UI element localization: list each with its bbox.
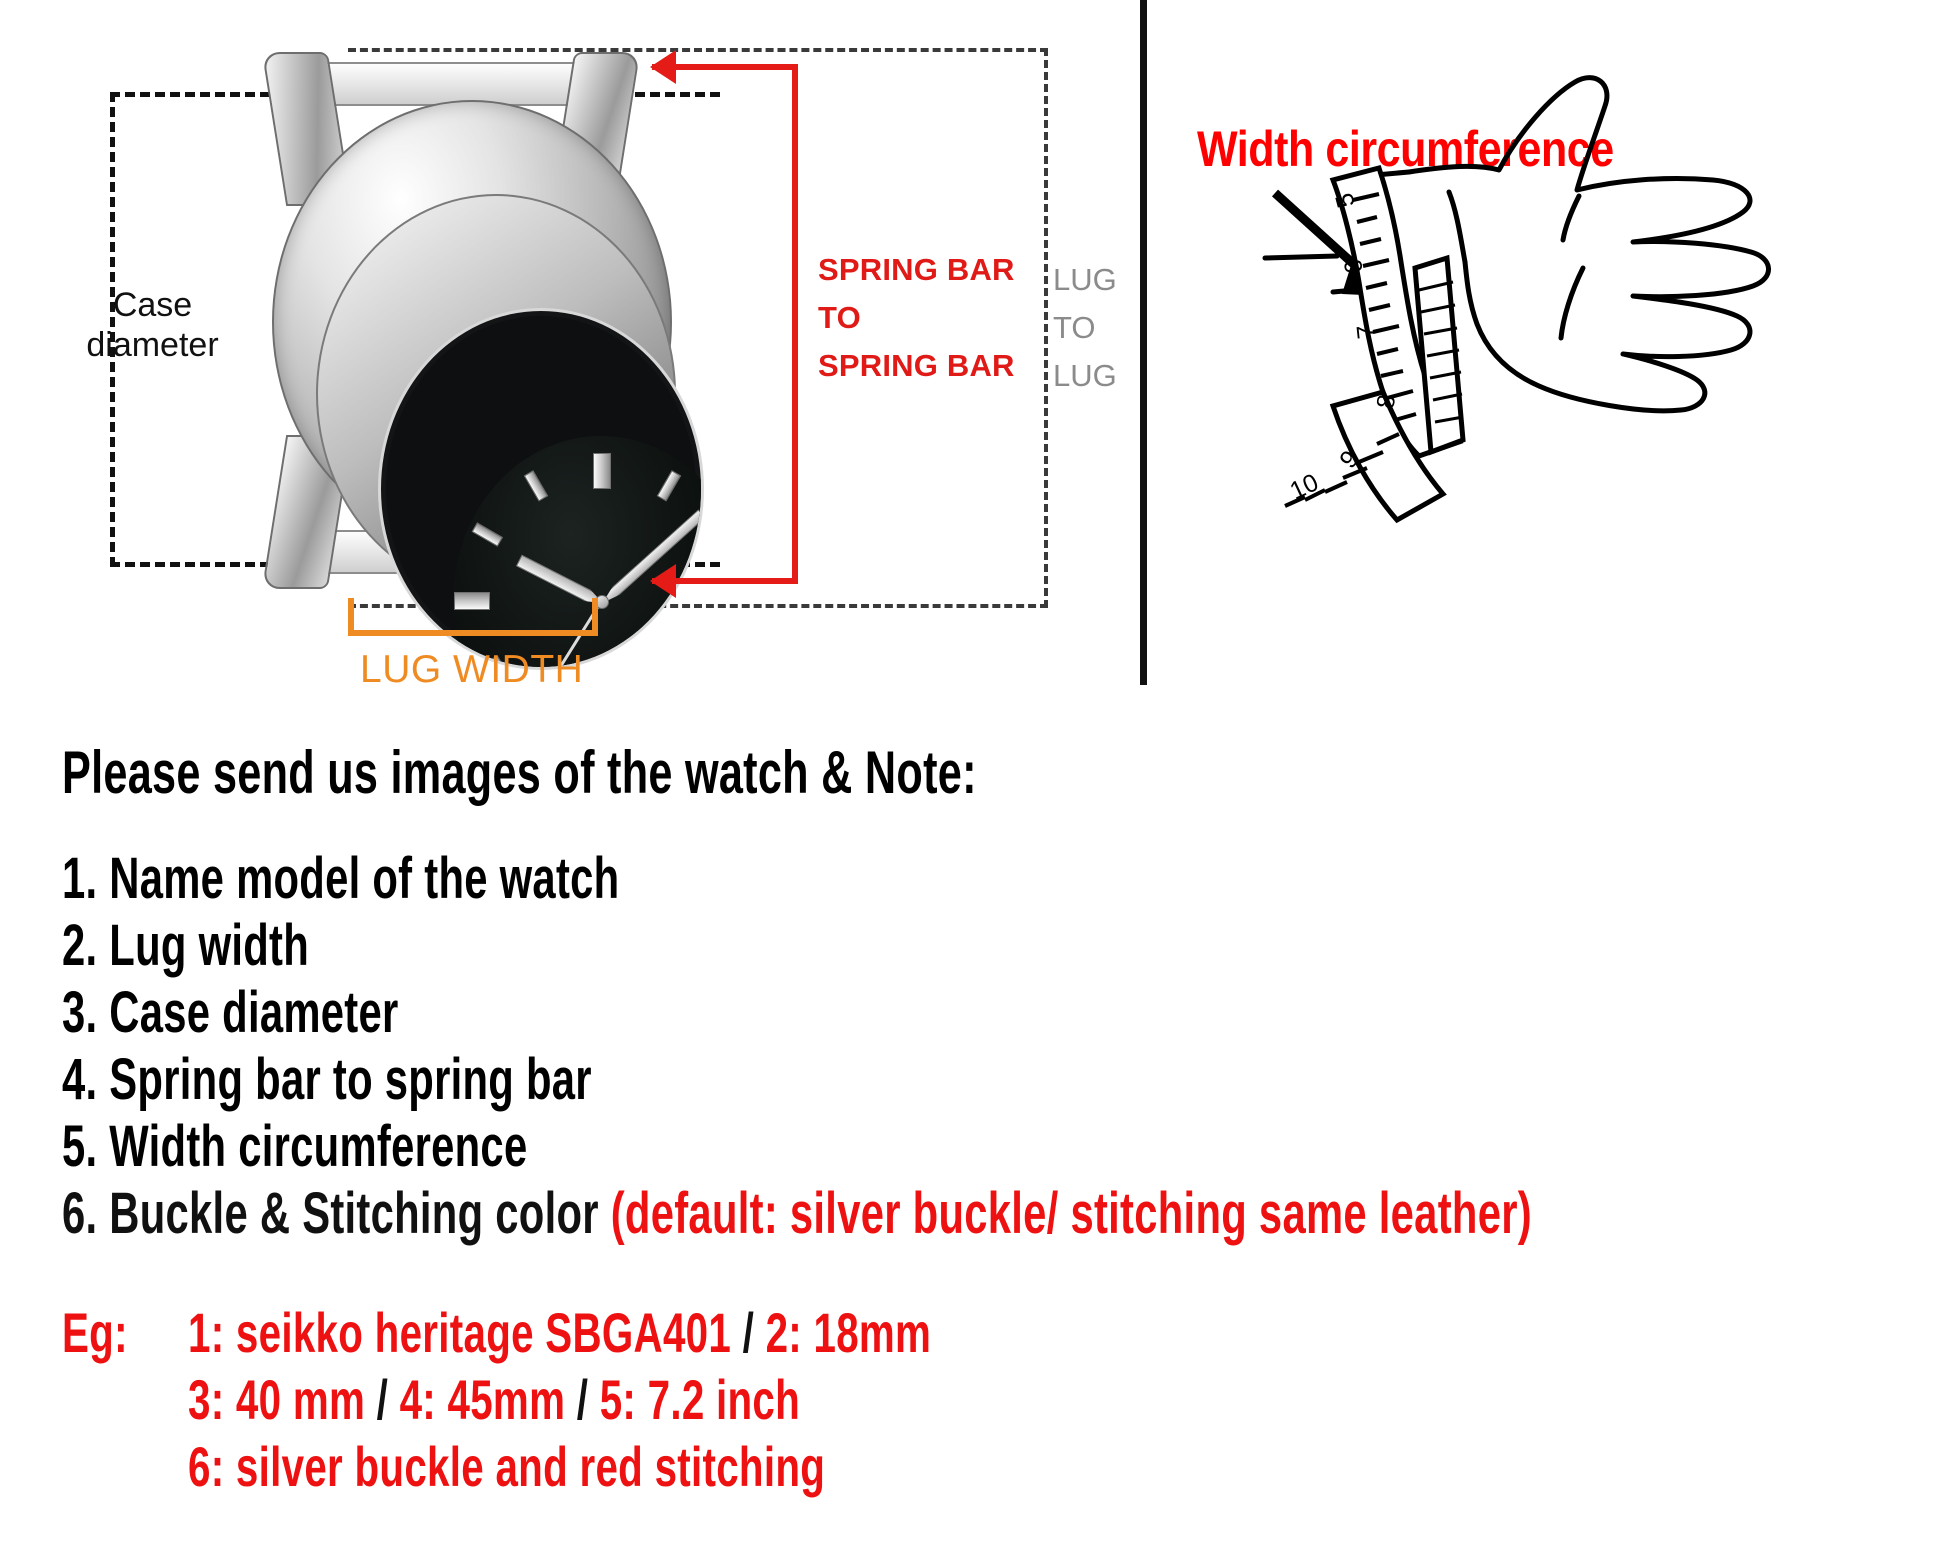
spring-bar-label-line1: SPRING BAR (818, 246, 1028, 294)
watch-hour-marker (701, 655, 704, 670)
case-diameter-label: Case diameter (45, 285, 260, 365)
spring-bar-to-spring-bar-label: SPRING BAR TO SPRING BAR (818, 246, 1028, 390)
example-line-2: 3: 40 mm / 4: 45mm / 5: 7.2 inch (188, 1367, 800, 1432)
spring-bar-label-line3: SPRING BAR (818, 342, 1028, 390)
note-item-2: 2. Lug width (62, 912, 309, 979)
note-item-1: 1. Name model of the watch (62, 845, 619, 912)
example-line-2-part-c: 5: 7.2 inch (588, 1368, 800, 1431)
notes-heading: Please send us images of the watch & Not… (62, 738, 977, 807)
watch-bezel: 6 (316, 194, 676, 594)
spring-bar-label-line2: TO (818, 294, 1028, 342)
note-item-6-black-part: 6. Buckle & Stitching color (62, 1181, 611, 1246)
example-separator: / (743, 1301, 754, 1364)
spring-bar-bracket (652, 64, 798, 584)
watch-hour-marker (523, 470, 548, 501)
forearm-bottom-edge-a (1333, 290, 1355, 292)
lug-width-bracket-baseline (348, 630, 598, 636)
watch-hour-marker (593, 453, 611, 489)
note-item-6: 6. Buckle & Stitching color (default: si… (62, 1180, 1532, 1247)
watch-strap-top (312, 62, 588, 106)
example-line-3: 6: silver buckle and red stitching (188, 1434, 825, 1499)
forearm-bottom-edge-b (1265, 256, 1337, 258)
thumb-crease (1563, 196, 1579, 240)
example-separator: / (377, 1368, 388, 1431)
note-item-5: 5. Width circumference (62, 1113, 527, 1180)
example-line-2-part-b: 4: 45mm (388, 1368, 577, 1431)
note-item-4: 4. Spring bar to spring bar (62, 1046, 592, 1113)
example-line-2-part-a: 3: 40 mm (188, 1368, 377, 1431)
arrow-left-icon (650, 564, 676, 598)
example-separator: / (577, 1368, 588, 1431)
wrist-inner-edge (1449, 192, 1465, 262)
case-diameter-label-line1: Case (113, 286, 192, 324)
wrist-measurement-panel: Width circumference (1147, 0, 1946, 690)
diagram-area: Case diameter 6 (0, 0, 1946, 690)
lug-width-bracket (348, 598, 598, 636)
note-item-3: 3. Case diameter (62, 979, 399, 1046)
tape-number-10: 10 (1286, 468, 1323, 505)
notes-section: Please send us images of the watch & Not… (0, 690, 1946, 1557)
watch-illustration: 6 (250, 30, 690, 610)
watch-case: 6 (272, 100, 672, 544)
watch-date-window: 6 (665, 653, 704, 670)
wrist-with-tape-illustration: 5 6 7 8 9 10 (1147, 0, 1946, 690)
tape-number-7: 7 (1352, 324, 1381, 341)
arrow-left-icon (650, 50, 676, 84)
note-item-6-red-part: (default: silver buckle/ stitching same … (611, 1181, 1532, 1246)
watch-measurement-panel: Case diameter 6 (0, 0, 1140, 690)
palm-crease (1561, 268, 1583, 338)
example-line-1-part-a: 1: seikko heritage SBGA401 (188, 1301, 743, 1364)
lug-width-label: LUG WIDTH (360, 648, 583, 692)
case-diameter-label-line2: diameter (86, 326, 218, 364)
example-line-1: 1: seikko heritage SBGA401 / 2: 18mm (188, 1300, 931, 1365)
example-line-1-part-b: 2: 18mm (754, 1301, 931, 1364)
lug-width-bracket-right-tick (592, 598, 598, 636)
example-label: Eg: (62, 1300, 128, 1365)
spring-bar-bracket-vertical (792, 64, 798, 584)
watch-hour-marker (471, 522, 502, 547)
lug-width-bracket-left-tick (348, 598, 354, 636)
